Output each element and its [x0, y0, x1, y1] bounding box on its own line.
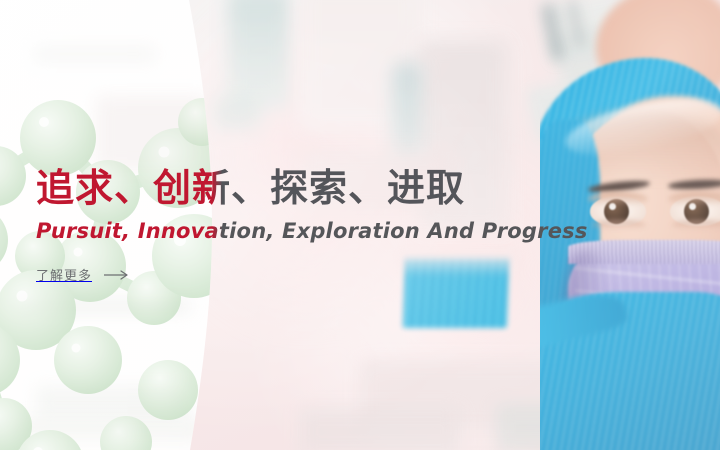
- arrow-right-icon: [104, 270, 130, 280]
- learn-more-label: 了解更多: [36, 265, 92, 284]
- hero-banner: 追求、创新、探索、进取 Pursuit, Innovation, Explora…: [0, 0, 720, 450]
- page-title: 追求、创新、探索、进取: [36, 168, 696, 209]
- page-subtitle: Pursuit, Innovation, Exploration And Pro…: [36, 220, 696, 243]
- hero-copy: 追求、创新、探索、进取 Pursuit, Innovation, Explora…: [36, 168, 696, 285]
- learn-more-link[interactable]: 了解更多: [36, 265, 130, 284]
